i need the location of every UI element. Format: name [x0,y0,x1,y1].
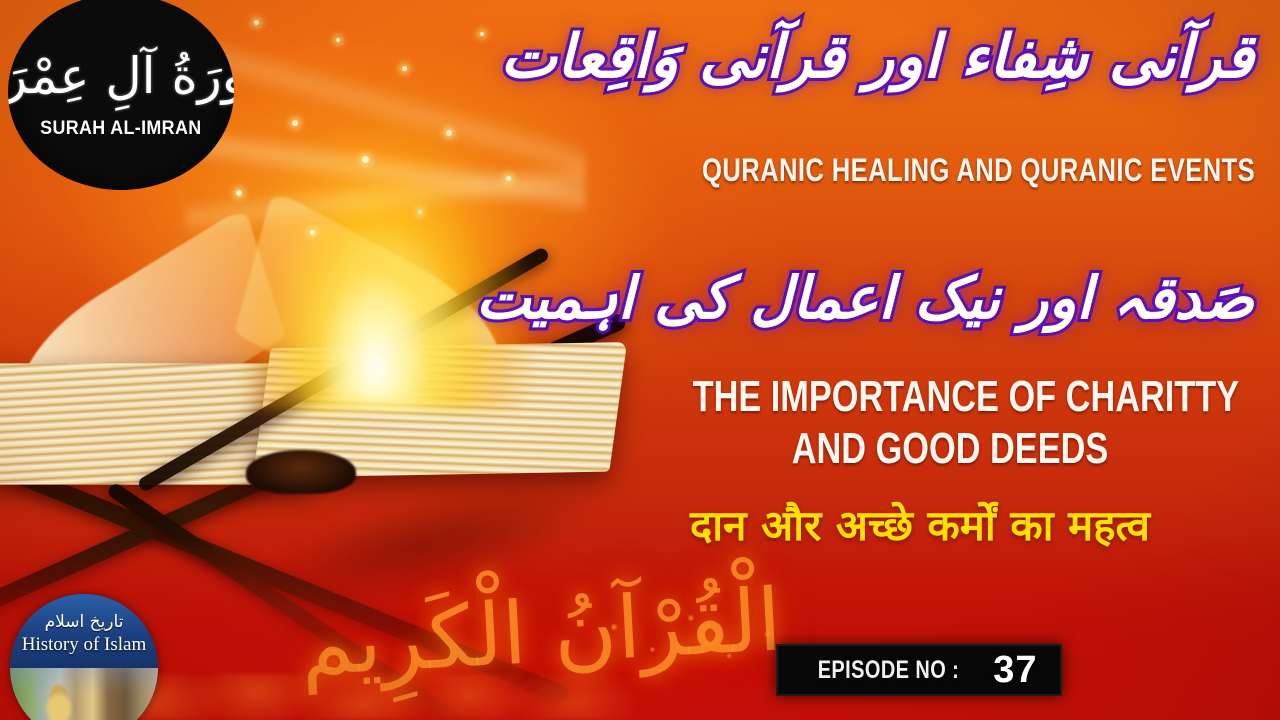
channel-name-latin: History of Islam [22,635,147,654]
surah-name-latin: SURAH AL-IMRAN [40,118,201,140]
episode-number: 37 [993,649,1037,692]
surah-badge: سُورَةُ آلِ عِمْرَان SURAH AL-IMRAN [8,0,234,190]
channel-logo: تاریخ اسلام History of Islam [10,594,158,720]
topic-title-urdu: صَدقہ اور نیک اعمال کی اہمیت [476,264,1254,332]
channel-logo-photo-collage [10,668,158,720]
topic-title-english-line1: THE IMPORTANCE OF CHARITTY [693,372,1208,422]
channel-name-arabic: تاریخ اسلام [45,614,124,631]
channel-logo-band: تاریخ اسلام History of Islam [10,594,158,671]
topic-title-hindi: दान और अच्छे कर्मों का महत्व [560,496,1280,553]
topic-title-english-line2: AND GOOD DEEDS [693,424,1208,474]
youtube-thumbnail: الْقُرْآنُ الْكَرِيم سُورَةُ آلِ عِمْرَا… [0,0,1280,720]
episode-badge: EPISODE NO : 37 [776,644,1062,696]
surah-name-arabic: سُورَةُ آلِ عِمْرَان [8,50,234,103]
series-title-urdu: قرآنی شِفاء اور قرآنی وَاقِعات [500,22,1254,92]
series-subtitle-english: QURANIC HEALING AND QURANIC EVENTS [702,152,1198,189]
episode-label: EPISODE NO : [818,656,960,685]
